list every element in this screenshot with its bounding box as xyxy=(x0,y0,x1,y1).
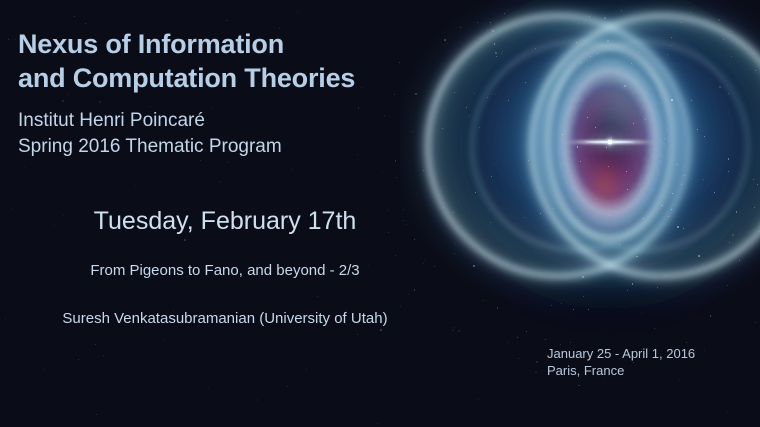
event-date: Tuesday, February 17th xyxy=(0,207,450,236)
talk-title: From Pigeons to Fano, and beyond - 2/3 xyxy=(0,262,450,279)
venue-subtitle: Institut Henri Poincaré Spring 2016 Them… xyxy=(18,108,282,160)
program-dates-location: January 25 - April 1, 2016 Paris, France xyxy=(547,345,695,379)
cosmic-nebula-artwork xyxy=(400,0,760,370)
conference-slide: Nexus of Information and Computation The… xyxy=(0,0,760,427)
speaker-name: Suresh Venkatasubramanian (University of… xyxy=(0,310,450,327)
page-title: Nexus of Information and Computation The… xyxy=(18,27,355,95)
